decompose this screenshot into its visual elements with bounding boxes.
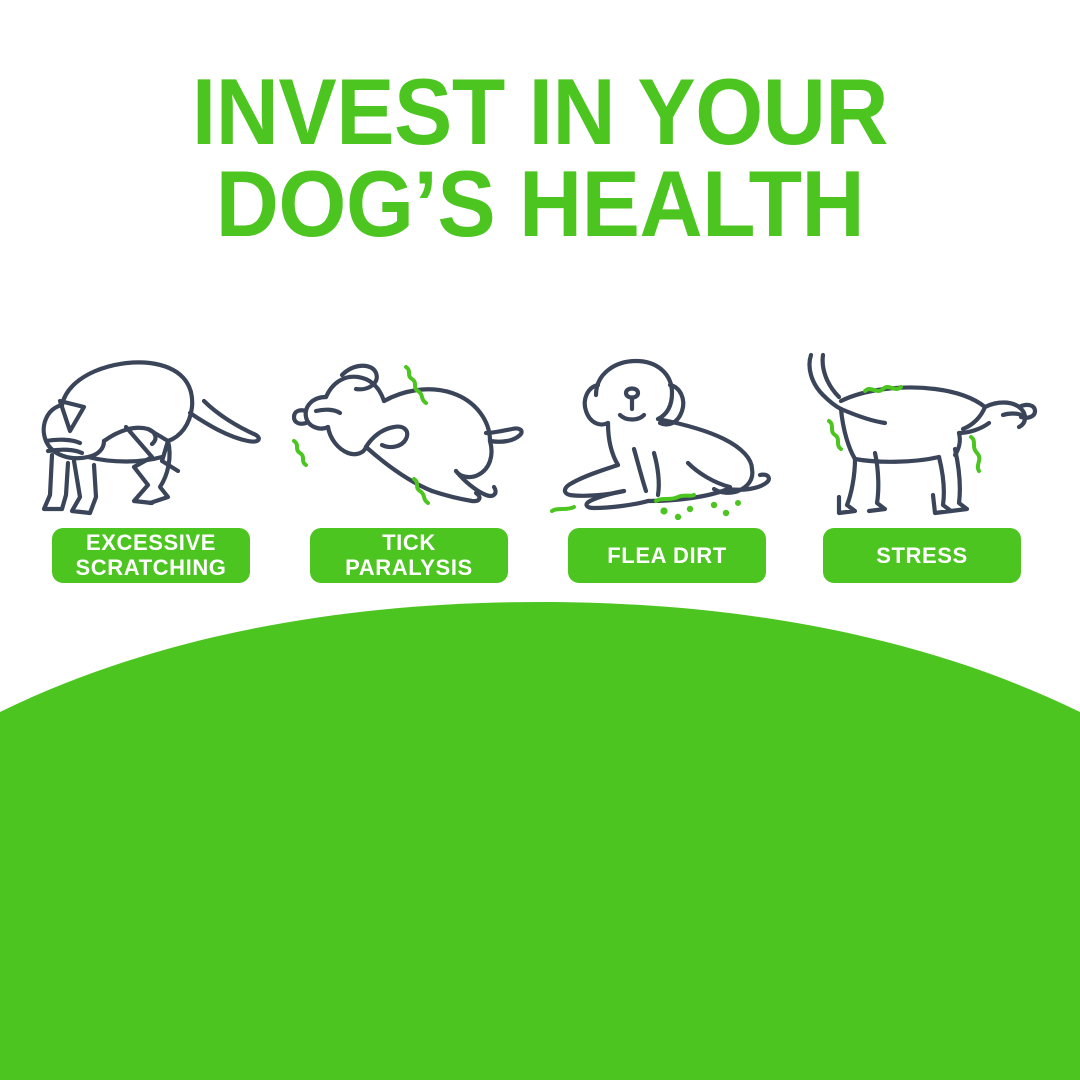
symptom-card-stress[interactable]: STRESS	[793, 345, 1051, 595]
dog-scratching-icon	[22, 345, 280, 520]
symptom-badge-tick-paralysis[interactable]: TICK PARALYSIS	[310, 528, 508, 583]
page-title-line-2: DOG’S HEALTH	[38, 158, 1042, 250]
dog-standing-stress-icon	[793, 345, 1051, 520]
dog-lying-paralysis-icon	[280, 345, 538, 520]
poster-canvas: INVEST IN YOUR DOG’S HEALTH	[0, 0, 1080, 1080]
page-title: INVEST IN YOUR DOG’S HEALTH	[0, 66, 1080, 250]
testimonial-section: "FurLife's tick chews are an excellent s…	[0, 700, 1080, 1080]
symptom-card-list: EXCESSIVE SCRATCHING	[0, 345, 1080, 595]
page-title-line-1: INVEST IN YOUR	[38, 66, 1042, 158]
symptom-card-excessive-scratching[interactable]: EXCESSIVE SCRATCHING	[22, 345, 280, 595]
symptom-badge-excessive-scratching[interactable]: EXCESSIVE SCRATCHING	[52, 528, 250, 583]
symptom-card-flea-dirt[interactable]: FLEA DIRT	[538, 345, 796, 595]
symptom-badge-flea-dirt[interactable]: FLEA DIRT	[568, 528, 766, 583]
symptom-card-tick-paralysis[interactable]: TICK PARALYSIS	[280, 345, 538, 595]
dog-resting-flea-dirt-icon	[538, 345, 796, 520]
symptom-badge-stress[interactable]: STRESS	[823, 528, 1021, 583]
